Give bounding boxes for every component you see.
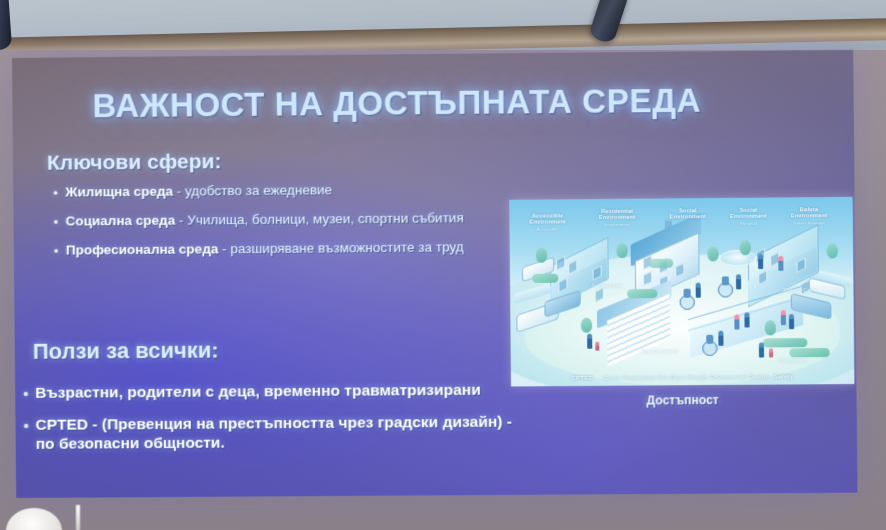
- illustration-inner-label: Accessible: [577, 283, 638, 290]
- cpted-acronym: CPTED: [571, 376, 593, 382]
- tree-icon: [740, 240, 751, 255]
- list-item-rest: - удобство за ежедневие: [173, 182, 332, 198]
- illustration-label: Social Environment: [657, 208, 720, 221]
- accessible-environment-illustration: Accessible Environment Accessible Reside…: [509, 197, 854, 387]
- wheelchair-icon: [702, 341, 717, 356]
- foreground-object: [76, 505, 80, 530]
- list-item-text: Социална среда - Училища, болници, музеи…: [66, 210, 464, 229]
- list-item-text: Професионална среда - разширяване възмож…: [66, 239, 464, 258]
- person-figure: [744, 312, 749, 327]
- illustration-inner-label: Public Care: [770, 288, 829, 295]
- wheelchair-icon: [680, 295, 695, 310]
- person-figure: [734, 314, 739, 329]
- list-item: • Възрастни, родители с деца, временно т…: [23, 380, 525, 405]
- person-figure: [789, 314, 794, 329]
- bullet-icon: •: [54, 214, 66, 232]
- person-figure: [759, 342, 764, 357]
- list-item: • Професионална среда - разширяване възм…: [54, 239, 486, 261]
- person-figure: [587, 334, 592, 349]
- image-caption: Достъпност: [511, 392, 855, 408]
- tree-icon: [616, 243, 627, 258]
- tree-icon: [536, 248, 547, 263]
- list-item: • Жилищна среда - удобство за ежедневие: [53, 181, 485, 203]
- illustration-label: Accessible Environment Accessible: [515, 213, 580, 231]
- bullet-icon: •: [23, 416, 35, 437]
- person-figure: [758, 254, 763, 269]
- hedge-shape: [763, 338, 808, 347]
- list-item-lead: Социална среда: [66, 213, 176, 229]
- illustration-label: Social Environment Hospital: [717, 208, 780, 226]
- section-heading-key-areas: Ключови сфери:: [47, 150, 222, 176]
- hedge-shape: [789, 348, 830, 357]
- page-title: ВАЖНОСТ НА ДОСТЪПНАТА СРЕДА: [92, 82, 701, 126]
- section-heading-benefits: Ползи за всички:: [33, 337, 219, 364]
- safety-label: Safety: [773, 374, 793, 380]
- hedge-shape: [627, 289, 657, 298]
- child-figure: [595, 342, 599, 351]
- tree-icon: [707, 246, 718, 261]
- tree-icon: [827, 243, 838, 258]
- presentation-slide: ВАЖНОСТ НА ДОСТЪПНАТА СРЕДА Ключови сфер…: [12, 50, 857, 498]
- list-item-text: Възрастни, родители с деца, временно тра…: [35, 381, 481, 403]
- list-item-text: CPTED - (Превенция на престъпността чрез…: [35, 412, 525, 453]
- benefits-list: • Възрастни, родители с деца, временно т…: [23, 380, 526, 465]
- person-figure: [718, 331, 723, 346]
- list-item: • Социална среда - Училища, болници, муз…: [54, 210, 486, 232]
- bullet-icon: •: [54, 243, 66, 261]
- hedge-shape: [649, 259, 673, 268]
- illustration-inner-label: Transport: [763, 358, 822, 365]
- bullet-icon: •: [53, 185, 65, 203]
- wheelchair-icon: [718, 282, 733, 297]
- list-item-text: Жилищна среда - удобство за ежедневие: [65, 182, 332, 200]
- list-item-lead: Жилищна среда: [65, 184, 173, 200]
- list-item-lead: Професионална среда: [66, 241, 219, 257]
- illustration-label: Bafeta Environment Smart Envirion: [776, 207, 843, 225]
- illustration-label: Residential Environment Environment: [586, 209, 649, 227]
- list-item-rest: - разширяване възможностите за труд: [218, 239, 464, 256]
- cpted-phrase: Crime Prevention thio Desu though Enviro…: [604, 375, 770, 382]
- key-areas-list: • Жилищна среда - удобство за ежедневие …: [53, 181, 485, 272]
- person-figure: [736, 274, 741, 289]
- list-item-rest: - Училища, болници, музеи, спортни събит…: [175, 210, 464, 227]
- tree-icon: [765, 320, 776, 335]
- hedge-shape: [532, 274, 558, 283]
- illustration-inner-label: Environment: [630, 349, 691, 356]
- list-item: • CPTED - (Превенция на престъпността чр…: [23, 412, 525, 453]
- person-figure: [781, 310, 786, 325]
- bullet-icon: •: [23, 384, 35, 405]
- person-figure: [696, 283, 701, 298]
- tree-icon: [581, 318, 592, 333]
- person-figure: [778, 256, 783, 271]
- child-figure: [769, 348, 773, 357]
- photo-of-projected-slide: ВАЖНОСТ НА ДОСТЪПНАТА СРЕДА Ключови сфер…: [0, 0, 886, 530]
